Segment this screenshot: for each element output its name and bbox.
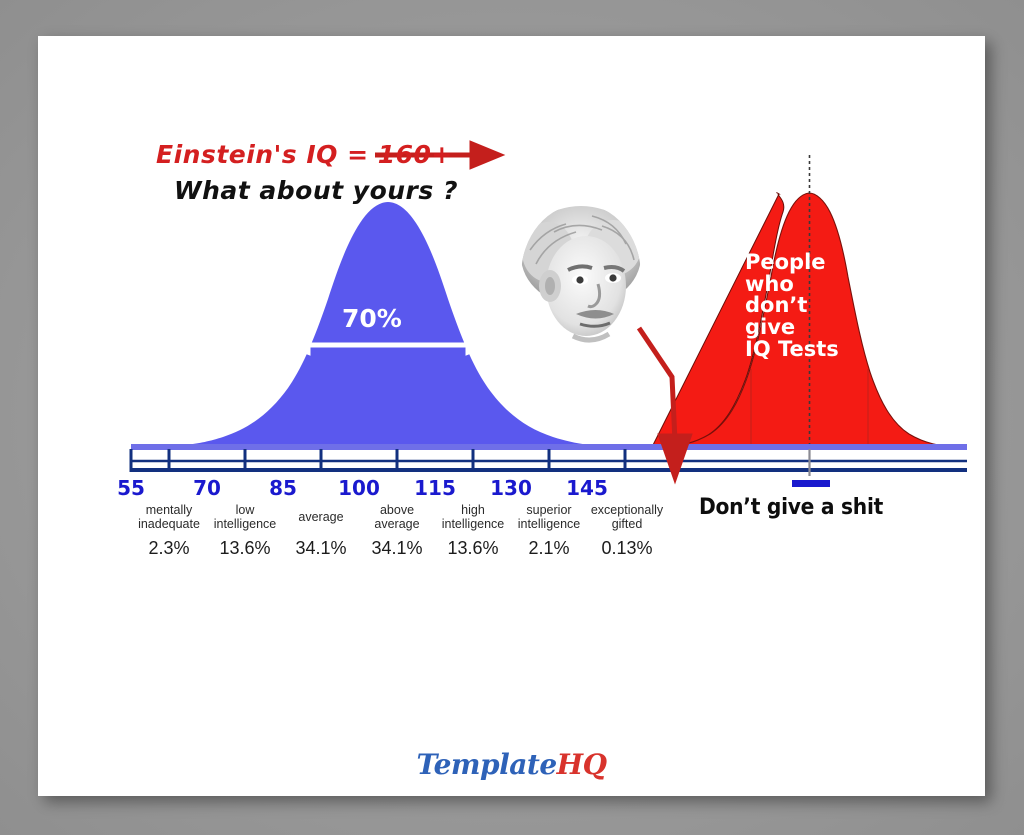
templatehq-logo: TemplateHQ: [38, 748, 985, 781]
red-caption-line-3: don’t: [745, 295, 875, 317]
percent-value-5: 13.6%: [433, 538, 513, 559]
red-caption-line-2: who: [745, 274, 875, 296]
percent-value-2: 13.6%: [205, 538, 285, 559]
red-caption-line-4: give: [745, 317, 875, 339]
document-page: Einstein's IQ = 160+ What about yours ? …: [38, 36, 985, 796]
iq-bell-curve-figure: Einstein's IQ = 160+ What about yours ? …: [38, 36, 985, 796]
axis-label-115: 115: [414, 476, 456, 500]
percent-value-7: 0.13%: [584, 538, 670, 559]
axis-label-100: 100: [338, 476, 380, 500]
axis-label-70: 70: [193, 476, 221, 500]
axis-label-145: 145: [566, 476, 608, 500]
logo-text-hq: HQ: [557, 748, 607, 781]
percent-value-3: 34.1%: [281, 538, 361, 559]
percent-value-6: 2.1%: [509, 538, 589, 559]
range-label-70-percent: 70%: [342, 304, 402, 333]
axis-label-55: 55: [117, 476, 145, 500]
right-axis-caption: Don’t give a shit: [699, 495, 883, 520]
headline-what-about-yours: What about yours ?: [174, 176, 458, 205]
red-curve-caption: People who don’t give IQ Tests: [745, 252, 875, 360]
percent-value-4: 34.1%: [357, 538, 437, 559]
red-caption-line-1: People: [745, 252, 875, 274]
axis-label-130: 130: [490, 476, 532, 500]
headline-einstein-iq: Einstein's IQ = 160+: [156, 140, 453, 169]
percent-value-1: 2.3%: [129, 538, 209, 559]
axis-label-85: 85: [269, 476, 297, 500]
red-caption-line-5: IQ Tests: [745, 339, 875, 361]
einstein-portrait: [518, 204, 648, 349]
logo-text-template: Template: [416, 748, 556, 781]
category-label-exceptionally-gifted: exceptionally gifted: [577, 503, 677, 531]
right-axis-dash-marker: [792, 480, 830, 487]
